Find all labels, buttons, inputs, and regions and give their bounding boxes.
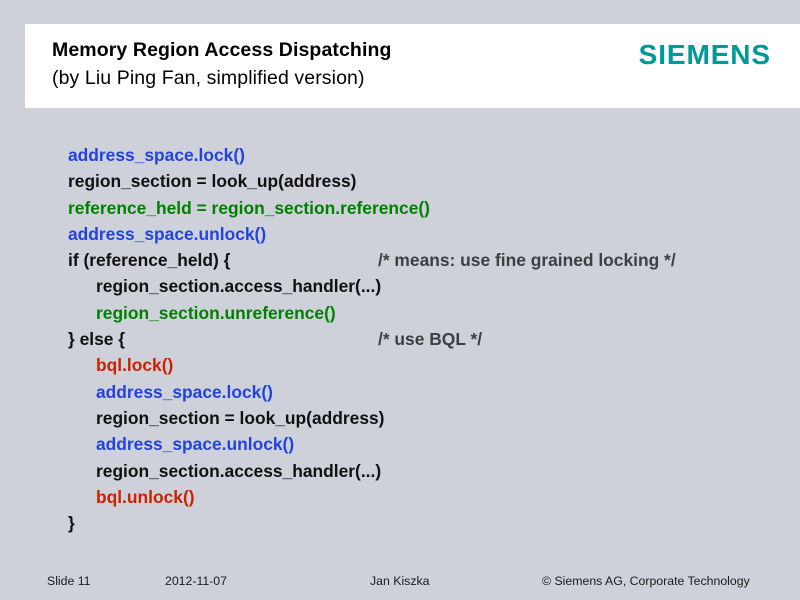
code-line: address_space.unlock() <box>68 431 780 457</box>
code-comment: /* means: use fine grained locking */ <box>378 247 676 273</box>
code-comment: /* use BQL */ <box>378 326 482 352</box>
footer-date: 2012-11-07 <box>165 572 227 590</box>
code-line-text: address_space.unlock() <box>68 221 266 247</box>
code-line: address_space.lock() <box>68 142 780 168</box>
code-line-text: address_space.unlock() <box>68 431 294 457</box>
code-line: if (reference_held) {/* means: use fine … <box>68 247 780 273</box>
code-line: region_section.access_handler(...) <box>68 458 780 484</box>
title-text-group: Memory Region Access Dispatching (by Liu… <box>52 37 612 92</box>
code-line-text: if (reference_held) { <box>68 247 230 273</box>
code-line-text: region_section.unreference() <box>68 300 336 326</box>
code-line-text: } else { <box>68 326 125 352</box>
code-line-text: region_section = look_up(address) <box>68 168 356 194</box>
code-line-text: bql.lock() <box>68 352 173 378</box>
code-line: address_space.lock() <box>68 379 780 405</box>
code-line-text: address_space.lock() <box>68 379 273 405</box>
code-line: region_section.access_handler(...) <box>68 273 780 299</box>
code-line: region_section = look_up(address) <box>68 405 780 431</box>
code-line: } <box>68 510 780 536</box>
page-title: Memory Region Access Dispatching <box>52 37 612 64</box>
presentation-slide: Memory Region Access Dispatching (by Liu… <box>0 0 800 600</box>
code-line: reference_held = region_section.referenc… <box>68 195 780 221</box>
code-line-text: address_space.lock() <box>68 142 245 168</box>
footer-author: Jan Kiszka <box>370 572 429 590</box>
siemens-logo: SIEMENS <box>639 39 771 71</box>
code-line-text: region_section.access_handler(...) <box>68 273 381 299</box>
code-line: bql.unlock() <box>68 484 780 510</box>
code-line-text: region_section = look_up(address) <box>68 405 384 431</box>
code-line: } else {/* use BQL */ <box>68 326 780 352</box>
code-listing: address_space.lock()region_section = loo… <box>68 142 780 536</box>
code-line-text: reference_held = region_section.referenc… <box>68 195 430 221</box>
code-line: address_space.unlock() <box>68 221 780 247</box>
code-line-text: region_section.access_handler(...) <box>68 458 381 484</box>
code-line: region_section.unreference() <box>68 300 780 326</box>
slide-footer: Slide 11 2012-11-07 Jan Kiszka © Siemens… <box>0 572 800 594</box>
footer-slide-number: Slide 11 <box>47 572 91 590</box>
page-subtitle: (by Liu Ping Fan, simplified version) <box>52 64 612 92</box>
code-line: bql.lock() <box>68 352 780 378</box>
title-band: Memory Region Access Dispatching (by Liu… <box>25 24 800 108</box>
code-line-text: bql.unlock() <box>68 484 195 510</box>
code-line-text: } <box>68 510 75 536</box>
code-line: region_section = look_up(address) <box>68 168 780 194</box>
footer-copyright: © Siemens AG, Corporate Technology <box>542 572 750 590</box>
